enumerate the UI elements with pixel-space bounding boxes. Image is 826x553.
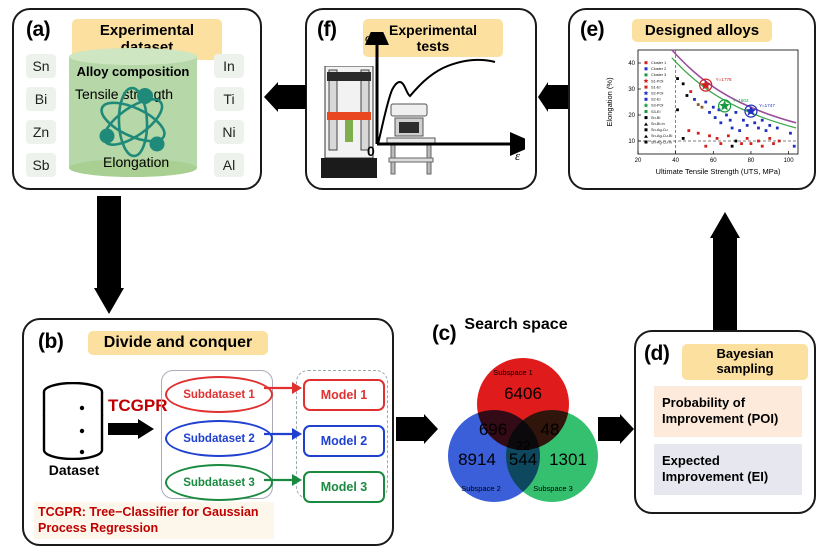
subdataset-1: Subdataset 1: [165, 376, 273, 413]
panel-b-label: (b): [38, 330, 63, 354]
element-chip-al: Al: [214, 153, 244, 177]
legend-item-sn-ag-cu-bi: Sn-Ag-Cu-Bi: [651, 134, 672, 138]
panel-e-label: (e): [580, 18, 604, 42]
x-tick-100: 100: [784, 158, 795, 164]
annotation-Y1602: Y=1602: [733, 98, 749, 103]
legend-item-s2-poi: S2-POI: [651, 92, 663, 96]
legend-item-cluster-3: Cluster 3: [651, 73, 666, 77]
arrow-c-to-d: [598, 414, 634, 444]
venn-label-subspace-2: Subspace 2: [450, 484, 512, 493]
model-group: Model 1Model 2Model 3: [296, 370, 388, 499]
model-1: Model 1: [303, 379, 385, 411]
panel-f-label: (f): [317, 18, 336, 42]
poi-box: Probability of Improvement (POI): [654, 386, 802, 437]
panel-d-title: Bayesian sampling: [682, 344, 808, 380]
subdataset-2: Subdataset 2: [165, 420, 273, 457]
element-chip-sn: Sn: [26, 54, 56, 78]
arrow-a-to-b: [94, 196, 124, 314]
y-axis-label: Elongation (%): [605, 77, 614, 127]
legend-item-s1-ei: S1-EI: [651, 85, 661, 89]
arrow-e-to-f: [538, 82, 568, 112]
panel-divide-and-conquer: (b) Divide and conquer Dataset TCGPR Sub…: [22, 318, 394, 546]
epsilon-axis-symbol: ε: [515, 148, 521, 162]
legend-item-cluster-2: Cluster 2: [651, 67, 666, 71]
legend-item-s3-poi: S3-POI: [651, 104, 663, 108]
legend-item-s3-ei: S3-EI: [651, 110, 661, 114]
subdataset-group: Subdataset 1Subdataset 2Subdataset 3: [161, 370, 273, 499]
panel-c-label: (c): [432, 322, 456, 346]
dataset-label: Dataset: [32, 462, 116, 478]
panel-experimental-dataset: (a) Experimental dataset SnBiZnSb Alloy …: [12, 8, 262, 190]
y-tick-20: 20: [628, 113, 635, 119]
origin-label: 0: [367, 143, 375, 159]
arrow-b-to-c: [396, 414, 438, 444]
element-chip-bi: Bi: [26, 87, 56, 111]
panel-b-title: Divide and conquer: [88, 331, 268, 355]
panel-designed-alloys: (e) Designed alloys Y=1778Y=1602Y=174720…: [568, 8, 816, 190]
stress-strain-chart: σ ε 0: [365, 32, 525, 162]
venn-value-subspace-3: 1301: [538, 450, 598, 470]
legend-item-s2-ei: S2-EI: [651, 98, 661, 102]
panel-a-label: (a): [26, 18, 50, 42]
tcgpr-definition-note: TCGPR: Tree−Classifier for Gaussian Proc…: [34, 502, 274, 539]
annotation-Y1747: Y=1747: [759, 103, 775, 108]
x-axis-label: Ultimate Tensile Strength (UTS, MPa): [656, 167, 781, 176]
subdataset-model-connectors: [264, 370, 302, 498]
element-chip-zn: Zn: [26, 120, 56, 144]
model-2: Model 2: [303, 425, 385, 457]
panel-bayesian-sampling: (d) Bayesian sampling Probability of Imp…: [634, 330, 816, 514]
arrow-f-to-a: [264, 82, 306, 112]
y-tick-30: 30: [628, 87, 635, 93]
y-tick-10: 10: [628, 139, 635, 145]
element-chip-sb: Sb: [26, 153, 56, 177]
x-tick-40: 40: [672, 158, 679, 164]
venn-label-subspace-3: Subspace 3: [522, 484, 584, 493]
database-icon: [42, 382, 104, 460]
venn-value-s2-s3: 544: [500, 450, 546, 470]
panel-d-label: (d): [644, 342, 669, 366]
element-chip-ni: Ni: [214, 120, 244, 144]
ei-box: Expected Improvement (EI): [654, 444, 802, 495]
x-tick-60: 60: [710, 158, 717, 164]
subdataset-3: Subdataset 3: [165, 464, 273, 501]
panel-e-title: Designed alloys: [632, 19, 772, 42]
search-space-venn: 6406891413016964822544Subspace 1Subspace…: [448, 358, 598, 508]
x-tick-80: 80: [748, 158, 755, 164]
venn-value-s1-s3: 48: [532, 420, 568, 440]
venn-value-s1-s2: 696: [473, 420, 513, 440]
atom-icon: [69, 48, 197, 176]
panel-experimental-tests: (f) Experimental tests σ ε 0: [305, 8, 537, 190]
y-tick-40: 40: [628, 61, 635, 67]
venn-label-subspace-1: Subspace 1: [482, 368, 544, 377]
legend-item-sn-bi: Sn-Bi: [651, 116, 660, 120]
model-3: Model 3: [303, 471, 385, 503]
legend-item-sn-bi-in: Sn-Bi-In: [651, 122, 665, 126]
annotation-Y1778: Y=1778: [716, 77, 732, 82]
element-column-left: SnBiZnSb: [26, 54, 56, 177]
panel-c-title: Search space: [464, 316, 568, 334]
venn-value-subspace-1: 6406: [488, 384, 558, 404]
venn-value-subspace-2: 8914: [446, 450, 508, 470]
arrow-d-to-e: [710, 196, 740, 330]
legend-item-sn-ag-cu-in: Sn-Ag-Cu-In: [651, 140, 672, 144]
element-column-right: InTiNiAl: [214, 54, 244, 177]
tcgpr-method-label: TCGPR: [108, 396, 168, 416]
element-chip-in: In: [214, 54, 244, 78]
arrow-dataset-to-subdatasets: [108, 418, 154, 440]
alloy-cylinder: Alloy composition Tensile strength Elong…: [69, 48, 197, 176]
legend-item-cluster-1: Cluster 1: [651, 61, 666, 65]
sigma-axis-symbol: σ: [365, 32, 372, 45]
designed-alloys-chart: Y=1778Y=1602Y=17472040608010010203040Ult…: [600, 42, 805, 182]
x-tick-20: 20: [635, 158, 642, 164]
element-chip-ti: Ti: [214, 87, 244, 111]
legend-item-s1-poi: S1-POI: [651, 79, 663, 83]
legend-item-sn-ag-cu: Sn-Ag-Cu: [651, 128, 668, 132]
